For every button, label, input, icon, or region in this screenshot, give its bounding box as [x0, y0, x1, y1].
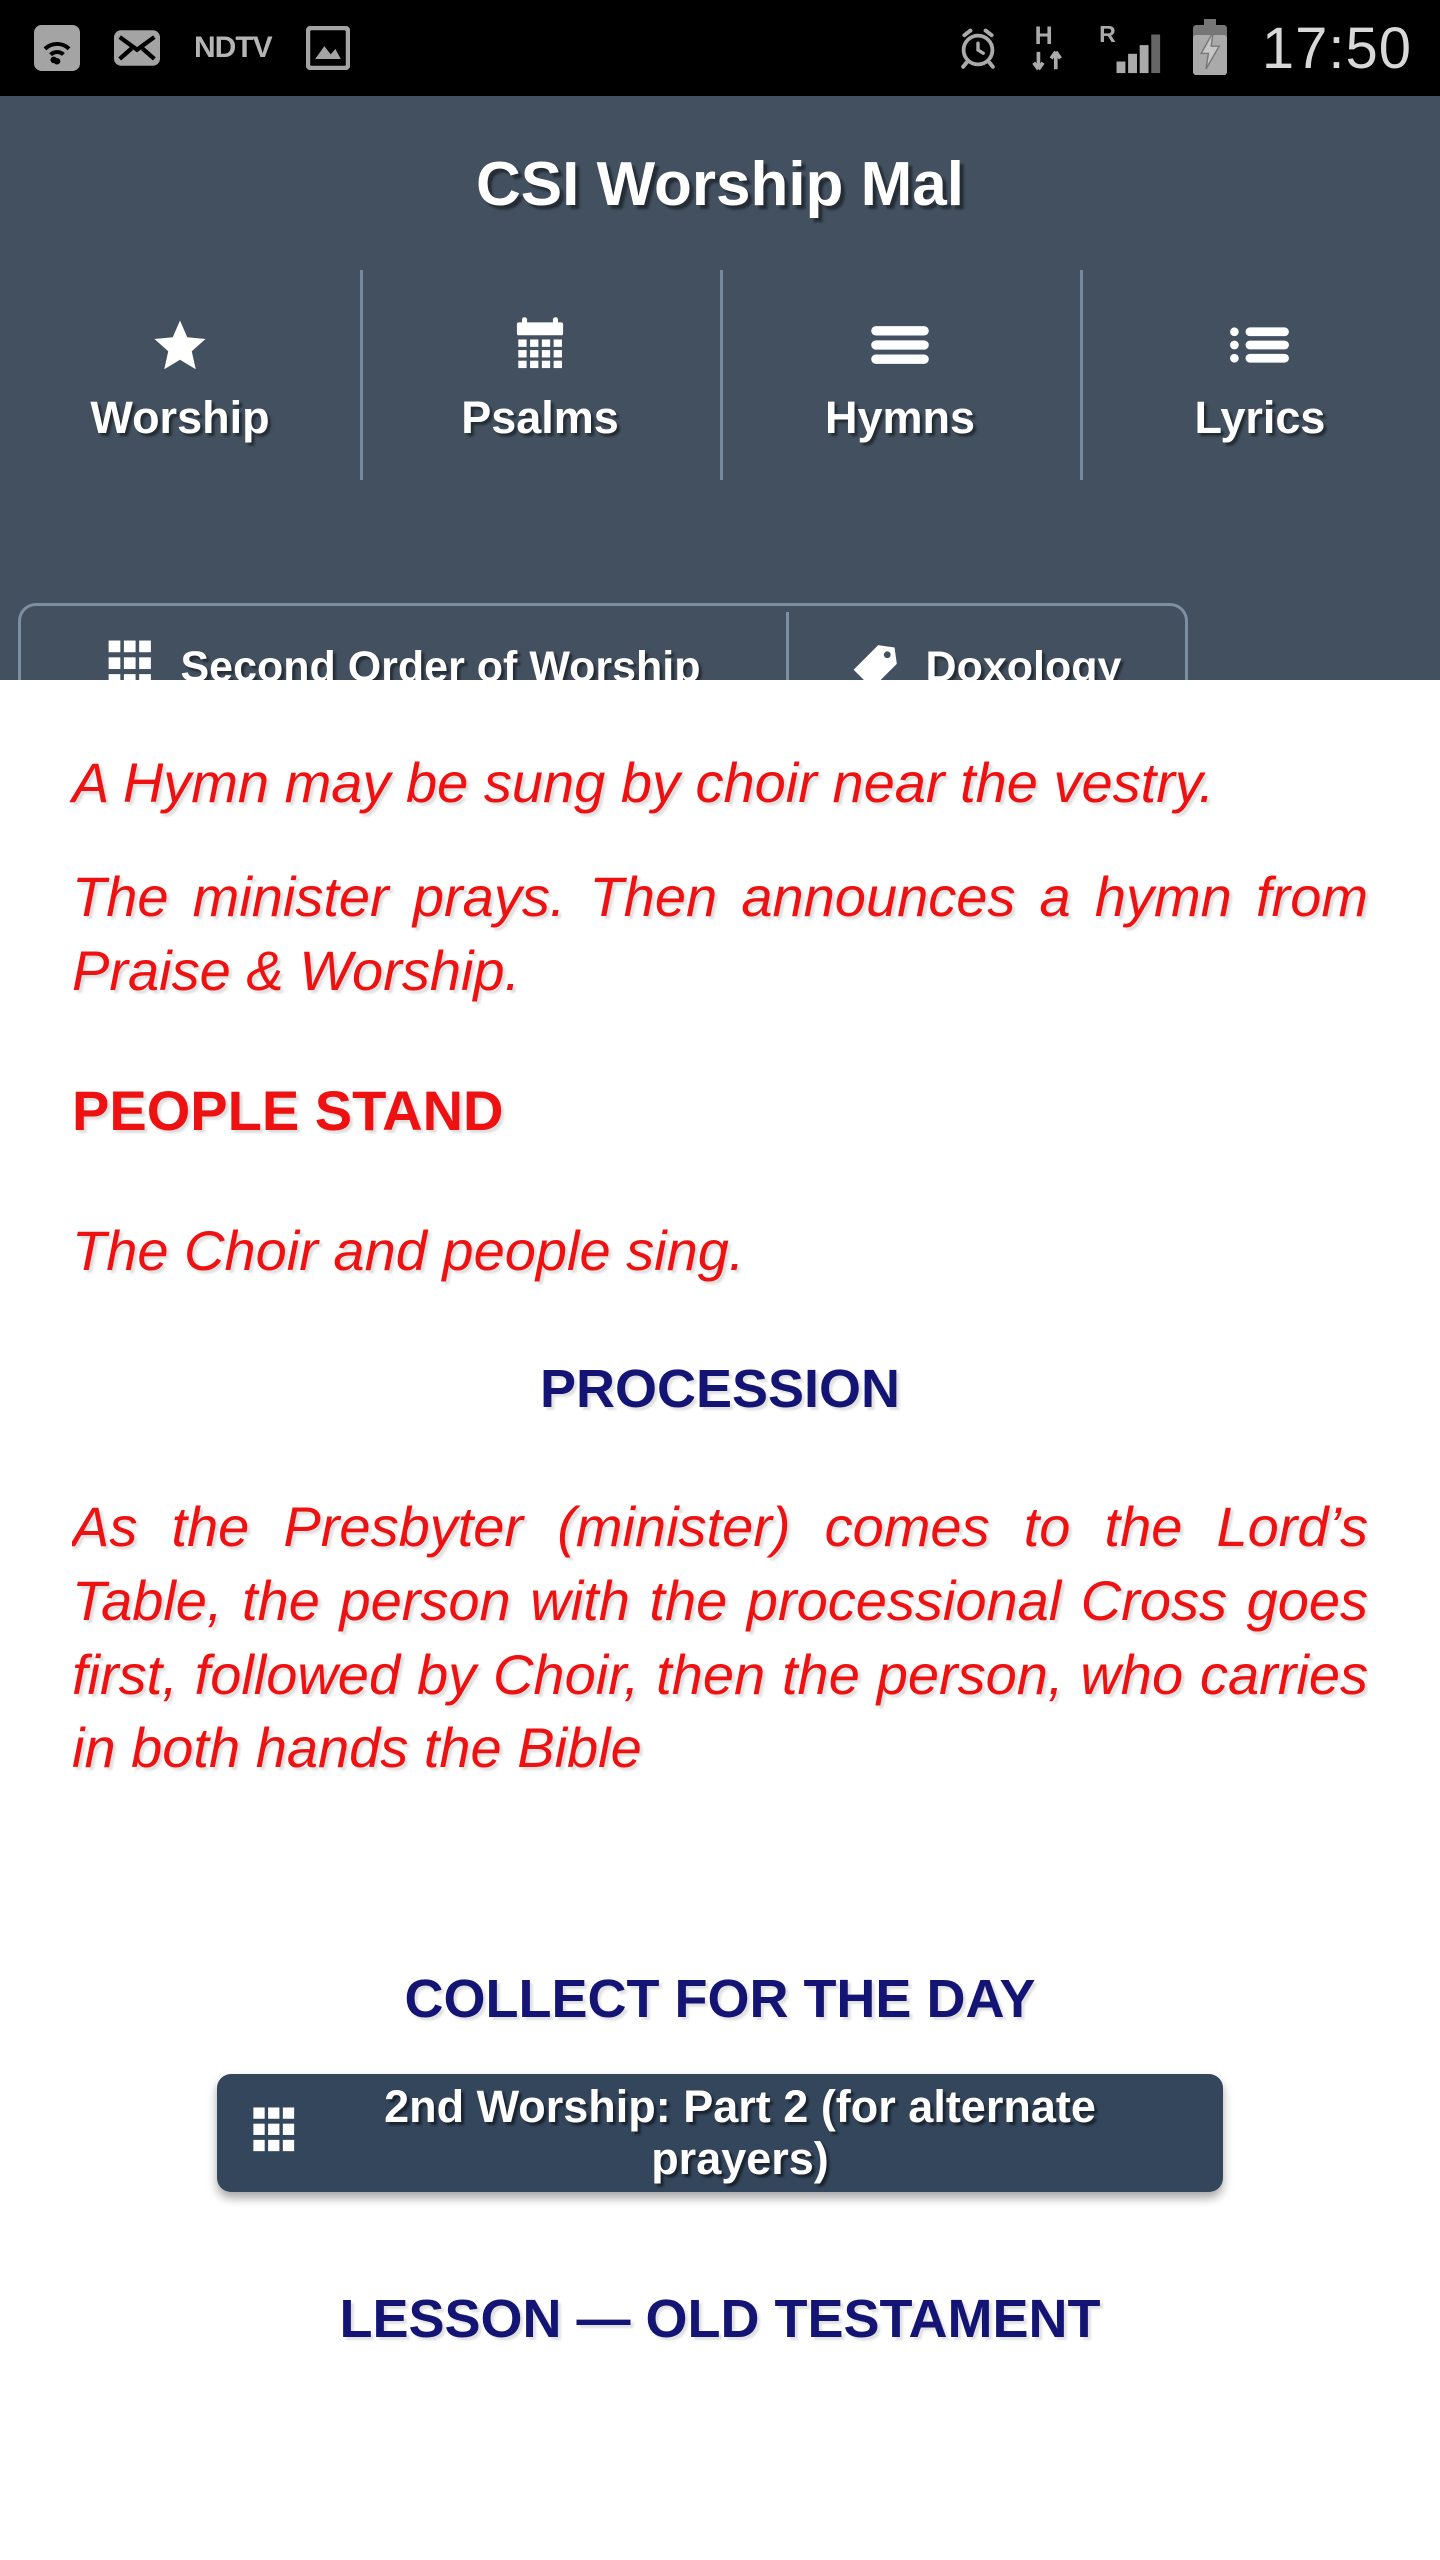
rubric-procession-detail: As the Presbyter (minister) comes to the…: [72, 1490, 1368, 1780]
status-bar: NDTV H R 17:50: [0, 0, 1440, 96]
spacer: [72, 1424, 1368, 1490]
spacer: [72, 1008, 1368, 1074]
rubric-hymn-vestry: A Hymn may be sung by choir near the ves…: [72, 746, 1368, 820]
button-2nd-worship-part-2[interactable]: 2nd Worship: Part 2 (for alternate praye…: [217, 2074, 1223, 2192]
tab-worship[interactable]: Worship: [0, 274, 360, 496]
svg-text:R: R: [1099, 21, 1116, 47]
ndtv-icon: NDTV: [194, 31, 272, 65]
chip-doxology[interactable]: Doxology: [786, 606, 1185, 680]
star-icon: [149, 312, 211, 378]
status-bar-clock: 17:50: [1262, 15, 1412, 82]
spacer: [72, 2034, 1368, 2074]
spacer: [72, 1872, 1368, 1964]
tab-hymns[interactable]: Hymns: [720, 274, 1080, 496]
bullet-list-icon: [1229, 312, 1291, 378]
chip-second-order-of-worship[interactable]: Second Order of Worship: [21, 606, 786, 680]
tab-hymns-label: Hymns: [825, 392, 975, 444]
heading-collect-for-the-day: COLLECT FOR THE DAY: [72, 1964, 1368, 2034]
wifi-icon: [34, 25, 80, 71]
heading-lesson-old-testament: LESSON — OLD TESTAMENT: [72, 2284, 1368, 2354]
tab-lyrics[interactable]: Lyrics: [1080, 274, 1440, 496]
status-bar-right-icons: H R 17:50: [954, 15, 1412, 82]
app-header: Karthavinte Athazham: ORDER OF WORSHIP C…: [0, 96, 1440, 680]
spacer: [72, 1780, 1368, 1872]
button-2nd-worship-part-2-label: 2nd Worship: Part 2 (for alternate praye…: [297, 2081, 1223, 2185]
tab-psalms[interactable]: Psalms: [360, 274, 720, 496]
calendar-icon: [511, 312, 569, 378]
sub-tab-bar: Second Order of Worship Doxology: [18, 603, 1188, 680]
spacer: [72, 2192, 1368, 2284]
tab-psalms-label: Psalms: [461, 392, 619, 444]
spacer: [72, 680, 1368, 746]
alarm-icon: [954, 24, 1002, 72]
chip-doxology-label: Doxology: [926, 643, 1122, 681]
spacer: [72, 1148, 1368, 1214]
signal-icon: R: [1098, 21, 1164, 75]
heading-procession: PROCESSION: [72, 1354, 1368, 1424]
rubric-choir-sing: The Choir and people sing.: [72, 1214, 1368, 1288]
email-icon: [114, 28, 160, 68]
battery-charging-icon: [1190, 19, 1230, 77]
menu-lines-icon: [869, 312, 931, 378]
direction-people-stand: PEOPLE STAND: [72, 1074, 1368, 1148]
status-bar-left-icons: NDTV: [34, 25, 954, 71]
svg-text:H: H: [1034, 22, 1052, 50]
rubric-minister-prays: The minister prays. Then announces a hym…: [72, 860, 1368, 1008]
grid-icon: [251, 2106, 297, 2160]
tab-bar: Worship Psalms: [0, 274, 1440, 496]
spacer: [72, 1288, 1368, 1354]
spacer: [72, 820, 1368, 860]
gallery-icon: [306, 26, 350, 70]
tab-lyrics-label: Lyrics: [1195, 392, 1326, 444]
hspa-data-icon: H: [1028, 21, 1072, 75]
grid-icon: [106, 639, 154, 680]
chip-second-order-label: Second Order of Worship: [180, 643, 700, 681]
tag-icon: [850, 641, 900, 680]
page-title: CSI Worship Mal: [0, 96, 1440, 274]
tab-worship-label: Worship: [90, 392, 269, 444]
worship-order-content[interactable]: A Hymn may be sung by choir near the ves…: [0, 680, 1440, 2560]
